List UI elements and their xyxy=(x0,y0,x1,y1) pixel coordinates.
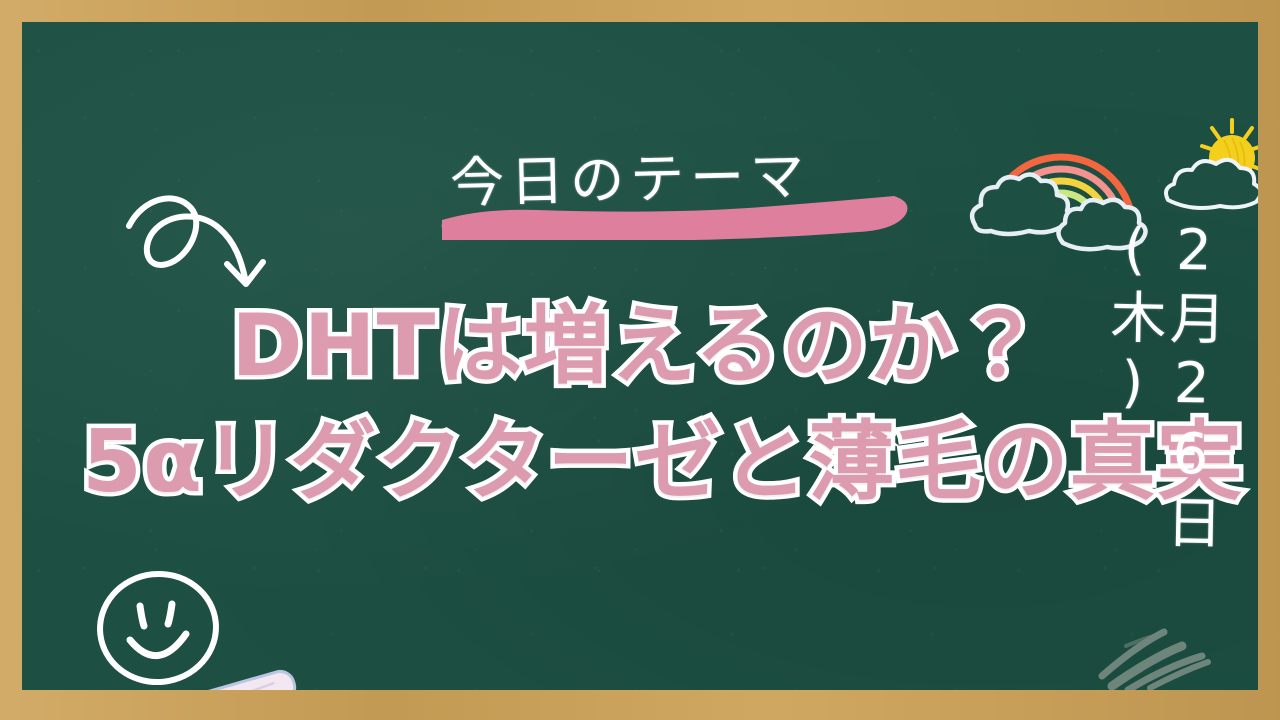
headline-line-1: DHTは増えるのか？ xyxy=(82,294,1192,398)
sun-behind-cloud-icon xyxy=(1162,114,1258,222)
chalkboard-thumbnail: 今日のテーマ DHTは増えるのか？ 5αリダクターゼと薄毛の真実 2月26日(木… xyxy=(0,0,1280,720)
headline: DHTは増えるのか？ 5αリダクターゼと薄毛の真実 xyxy=(82,294,1192,514)
chalk-sticks xyxy=(167,640,367,690)
headline-line-2: 5αリダクターゼと薄毛の真実 xyxy=(82,410,1192,514)
eyebrow-heading: 今日のテーマ xyxy=(440,134,910,234)
chalkboard-surface: 今日のテーマ DHTは増えるのか？ 5αリダクターゼと薄毛の真実 2月26日(木… xyxy=(22,22,1258,690)
date-label: 2月26日(木) xyxy=(1142,217,1224,690)
curly-arrow-icon xyxy=(117,174,297,304)
eyebrow-label: 今日のテーマ xyxy=(449,129,911,218)
